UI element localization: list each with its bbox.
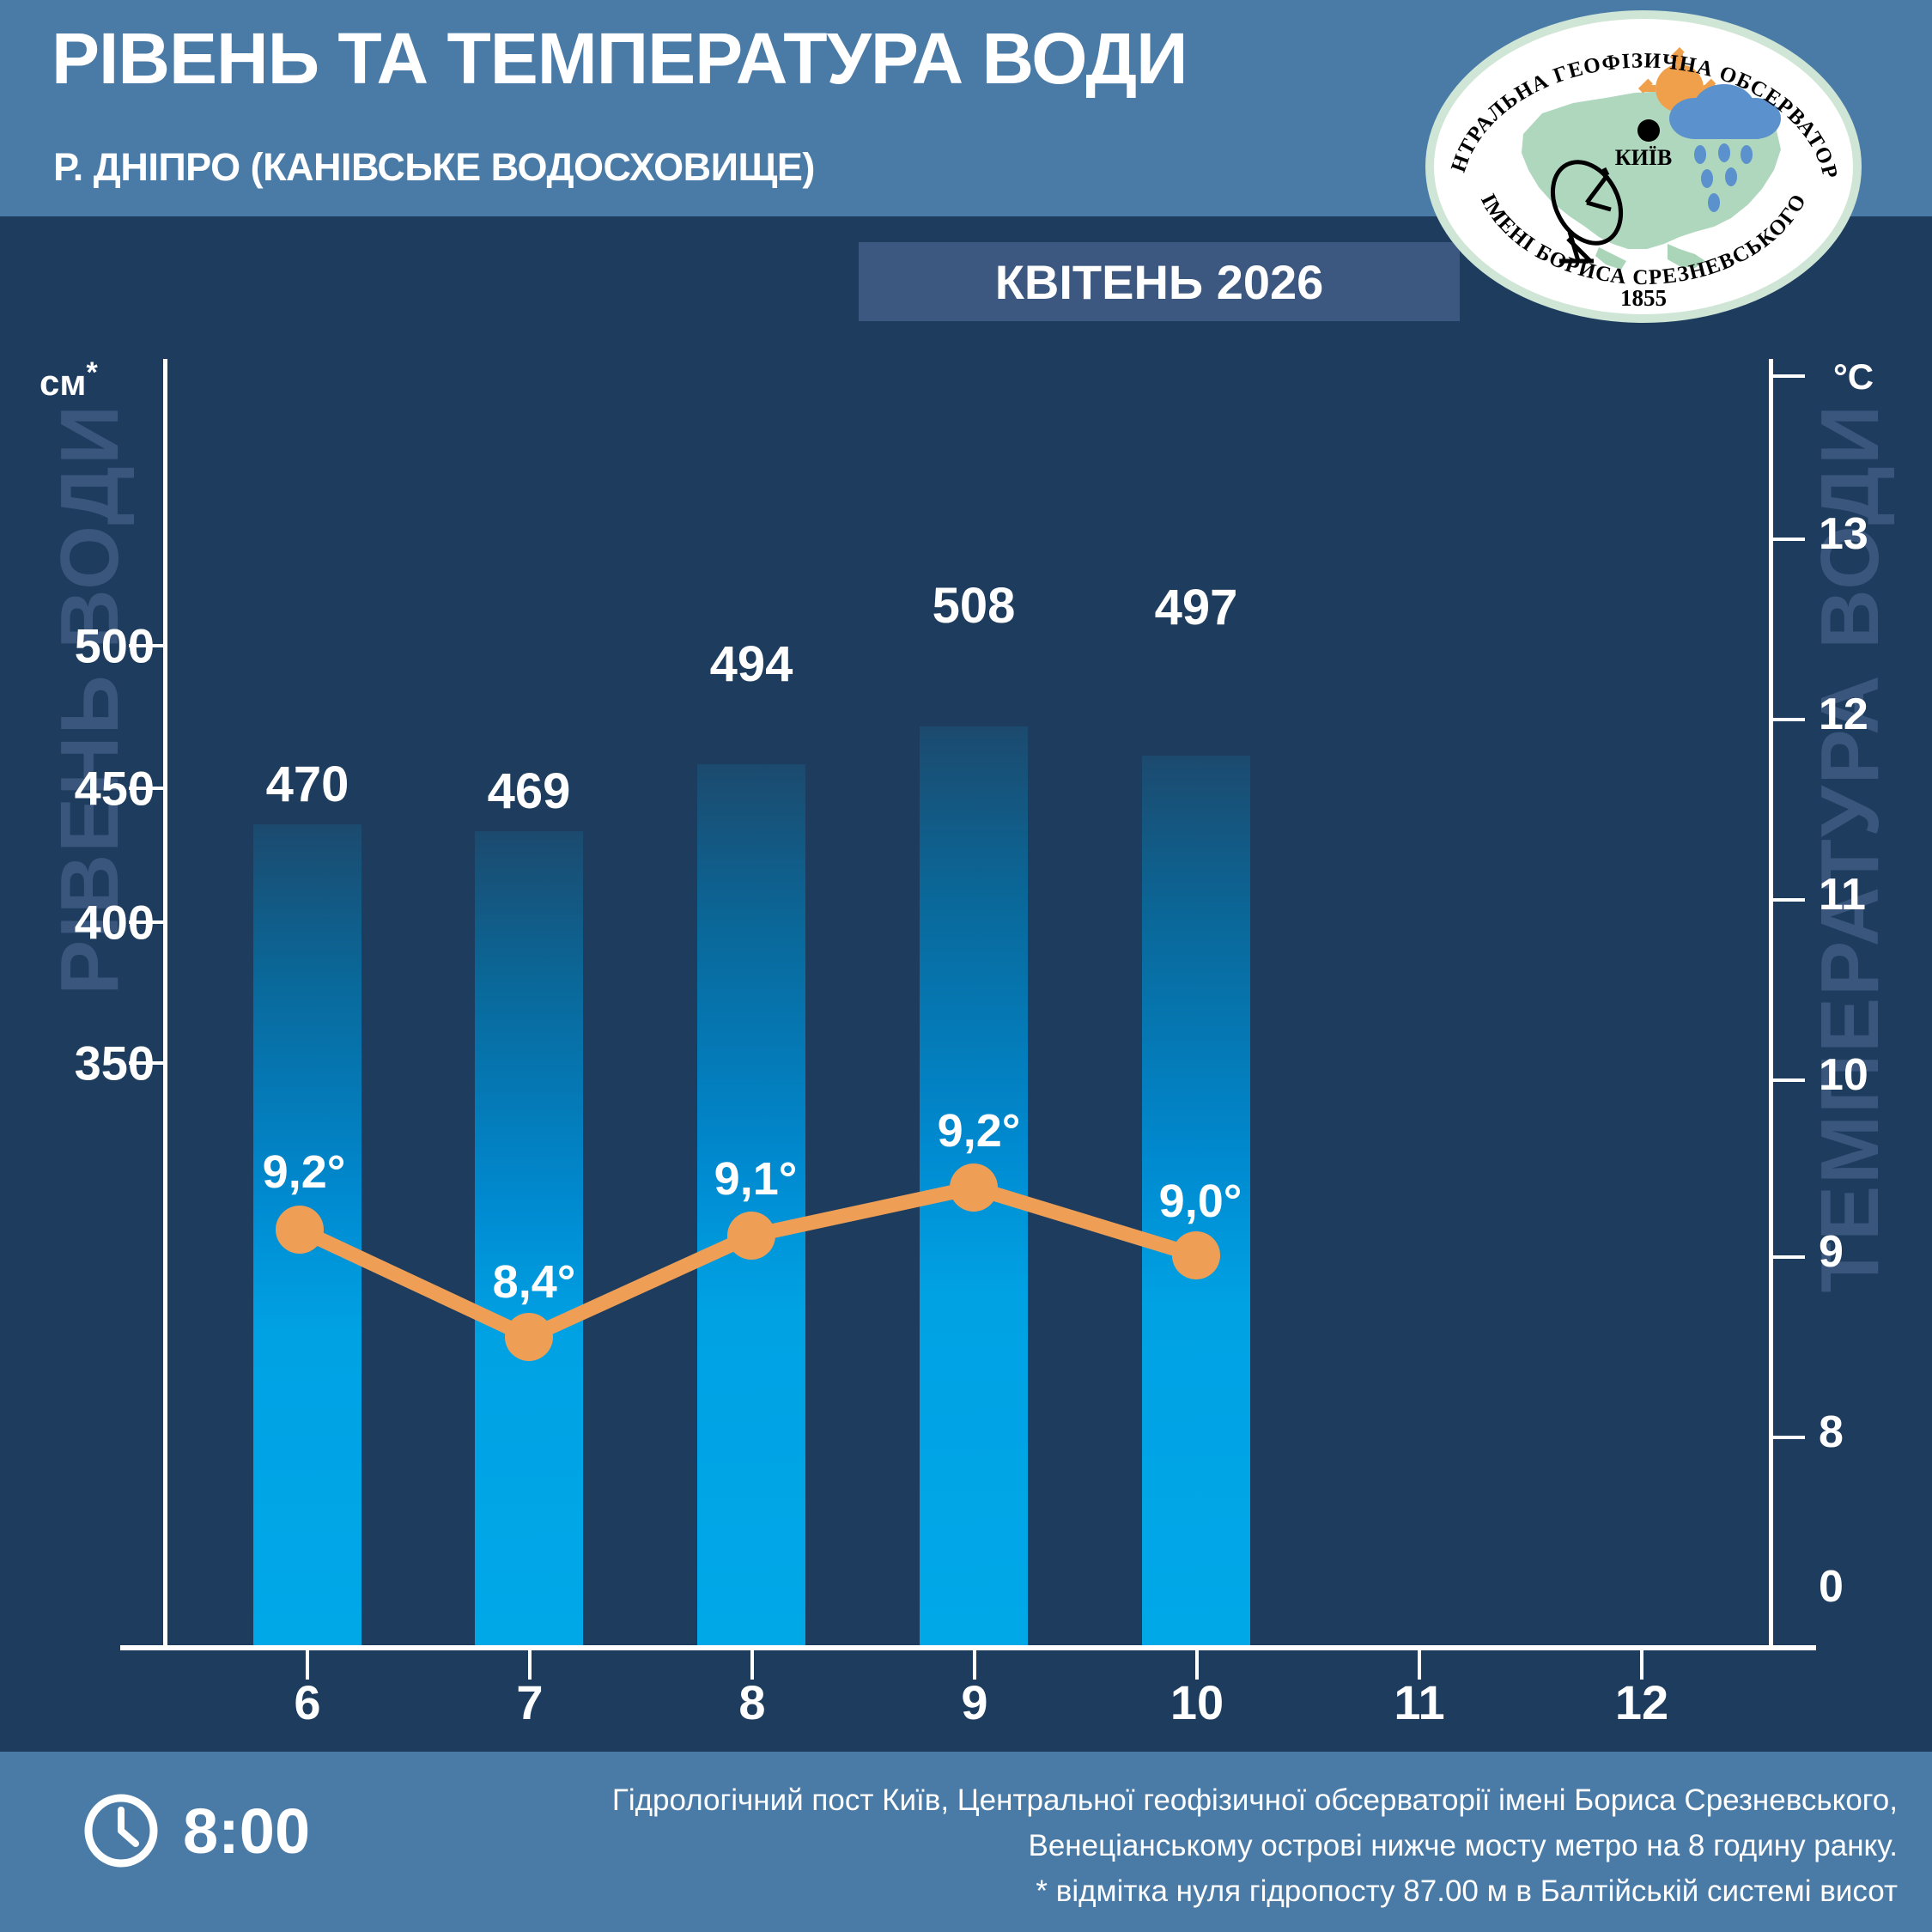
temp-value-day-10: 9,0° <box>1097 1175 1303 1228</box>
left-axis-label-350: 350 <box>17 1036 155 1091</box>
right-axis-label-11: 11 <box>1819 869 1932 920</box>
right-tick-10 <box>1771 1078 1805 1082</box>
footer-note-line-3: * відмітка нуля гідропосту 87.00 м в Бал… <box>558 1868 1898 1914</box>
bar-value-day-6: 470 <box>196 756 419 813</box>
footer-note-line-2: Венеціанському острові нижче мосту метро… <box>558 1823 1898 1868</box>
left-axis-unit: см* <box>39 356 98 404</box>
infographic-page: РІВЕНЬ ТА ТЕМПЕРАТУРА ВОДИ Р. ДНІПРО (КА… <box>0 0 1932 1932</box>
x-axis-label-6: 6 <box>239 1674 376 1730</box>
svg-text:1855: 1855 <box>1620 285 1667 311</box>
right-axis-unit: °C <box>1833 356 1874 398</box>
bar-value-day-9: 508 <box>862 577 1085 635</box>
x-axis-label-8: 8 <box>683 1674 821 1730</box>
x-axis-label-10: 10 <box>1128 1674 1266 1730</box>
observation-time: 8:00 <box>82 1791 310 1870</box>
right-axis-line <box>1769 359 1773 1647</box>
page-subtitle: Р. ДНІПРО (КАНІВСЬКЕ ВОДОСХОВИЩЕ) <box>53 148 1393 186</box>
temp-value-day-9: 9,2° <box>876 1104 1082 1157</box>
right-tick-8 <box>1771 1436 1805 1439</box>
temp-value-day-8: 9,1° <box>653 1152 859 1206</box>
bar-day-9[interactable] <box>920 726 1028 1645</box>
bar-day-6[interactable] <box>253 824 361 1645</box>
left-axis-label-500: 500 <box>17 618 155 674</box>
month-banner: КВІТЕНЬ 2026 <box>859 242 1460 321</box>
right-tick-13 <box>1771 538 1805 541</box>
temp-value-day-7: 8,4° <box>431 1255 637 1309</box>
month-banner-label: КВІТЕНЬ 2026 <box>995 254 1324 310</box>
temp-value-day-6: 9,2° <box>201 1145 407 1199</box>
x-axis-label-7: 7 <box>461 1674 598 1730</box>
right-axis-label-9: 9 <box>1819 1226 1932 1278</box>
left-axis-label-400: 400 <box>17 895 155 951</box>
x-axis-label-9: 9 <box>906 1674 1043 1730</box>
right-tick-top <box>1771 374 1805 378</box>
left-axis-label-450: 450 <box>17 761 155 817</box>
footer-note: Гідрологічний пост Київ, Центральної гео… <box>558 1777 1898 1915</box>
right-axis-label-13: 13 <box>1819 508 1932 560</box>
right-axis-label-10: 10 <box>1819 1049 1932 1101</box>
kyiv-dot <box>1637 119 1660 142</box>
clock-icon <box>82 1791 161 1870</box>
page-footer: 8:00 Гідрологічний пост Київ, Центрально… <box>0 1752 1932 1932</box>
right-tick-12 <box>1771 718 1805 721</box>
x-axis-line <box>120 1645 1816 1650</box>
x-axis-label-11: 11 <box>1351 1674 1488 1730</box>
observation-time-label: 8:00 <box>183 1795 310 1868</box>
left-axis-line <box>163 359 167 1647</box>
right-axis-label-0: 0 <box>1819 1561 1932 1613</box>
right-tick-9 <box>1771 1255 1805 1259</box>
bar-value-day-8: 494 <box>640 635 863 693</box>
right-axis-label-12: 12 <box>1819 689 1932 740</box>
bar-value-day-7: 469 <box>417 762 641 820</box>
x-axis-label-12: 12 <box>1573 1674 1710 1730</box>
bar-value-day-10: 497 <box>1084 579 1308 636</box>
right-axis-label-8: 8 <box>1819 1406 1932 1458</box>
observatory-logo: КИЇВ <box>1422 7 1865 326</box>
right-tick-11 <box>1771 898 1805 902</box>
svg-text:КИЇВ: КИЇВ <box>1615 145 1673 170</box>
page-title: РІВЕНЬ ТА ТЕМПЕРАТУРА ВОДИ <box>52 22 1391 94</box>
footer-note-line-1: Гідрологічний пост Київ, Центральної гео… <box>558 1777 1898 1823</box>
bar-day-7[interactable] <box>475 831 583 1645</box>
